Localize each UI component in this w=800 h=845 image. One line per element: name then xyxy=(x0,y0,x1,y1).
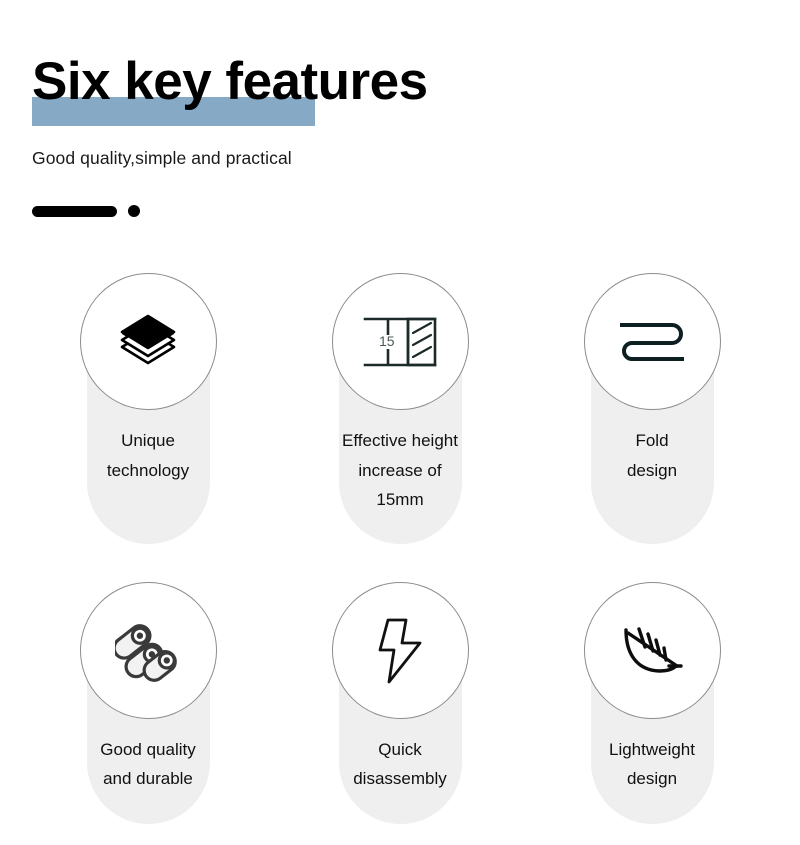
card-icon-circle xyxy=(584,582,721,719)
card-label: Fold design xyxy=(577,410,727,514)
card-label-line1: Unique xyxy=(73,426,223,455)
card-icon-circle xyxy=(332,582,469,719)
height-measure-value: 15 xyxy=(379,333,395,349)
card-icon-circle xyxy=(584,273,721,410)
card-label-line1: Good quality xyxy=(73,735,223,764)
card-label: Quick disassembly xyxy=(325,719,475,823)
feature-grid: Unique technology xyxy=(0,273,800,823)
divider-dot-icon xyxy=(128,205,140,217)
feature-showcase-page: { "header": { "title": "Six key features… xyxy=(0,0,800,845)
decorative-divider xyxy=(32,205,800,217)
tube-bundle-icon xyxy=(115,620,181,682)
page-header: Six key features Good quality,simple and… xyxy=(0,0,800,217)
feature-card-fold-design[interactable]: Fold design xyxy=(584,273,721,544)
feather-icon xyxy=(619,620,685,682)
feature-card-height-increase[interactable]: 15 Effective height increase of 15mm xyxy=(332,273,469,544)
layers-icon xyxy=(117,314,179,370)
card-label-line2: disassembly xyxy=(325,764,475,793)
card-icon-circle xyxy=(80,582,217,719)
card-label-line2: design xyxy=(577,764,727,793)
card-label-line1: Lightweight xyxy=(577,735,727,764)
lightning-bolt-icon xyxy=(376,617,424,685)
card-label: Effective height increase of 15mm xyxy=(325,410,475,544)
card-icon-circle: 15 xyxy=(332,273,469,410)
feature-card-quick-disassembly[interactable]: Quick disassembly xyxy=(332,582,469,823)
divider-bar-icon xyxy=(32,206,117,217)
page-subtitle: Good quality,simple and practical xyxy=(32,148,800,169)
card-label-line1: Fold xyxy=(577,426,727,455)
feature-card-unique-technology[interactable]: Unique technology xyxy=(80,273,217,544)
card-label: Lightweight design xyxy=(577,719,727,823)
card-icon-circle xyxy=(80,273,217,410)
card-label-line2: technology xyxy=(73,456,223,485)
card-label: Unique technology xyxy=(73,410,223,514)
feature-card-lightweight-design[interactable]: Lightweight design xyxy=(584,582,721,823)
card-label-line1: Quick xyxy=(325,735,475,764)
fold-icon xyxy=(616,320,688,364)
height-measure-icon: 15 xyxy=(362,311,438,373)
card-label-line2: design xyxy=(577,456,727,485)
card-label-line1: Effective height xyxy=(325,426,475,455)
card-label-line3: 15mm xyxy=(325,485,475,514)
page-title-wrapper: Six key features xyxy=(32,52,428,111)
card-label-line2: and durable xyxy=(73,764,223,793)
card-label-line2: increase of xyxy=(325,456,475,485)
page-title: Six key features xyxy=(32,52,428,111)
card-label: Good quality and durable xyxy=(73,719,223,823)
feature-card-good-quality[interactable]: Good quality and durable xyxy=(80,582,217,823)
